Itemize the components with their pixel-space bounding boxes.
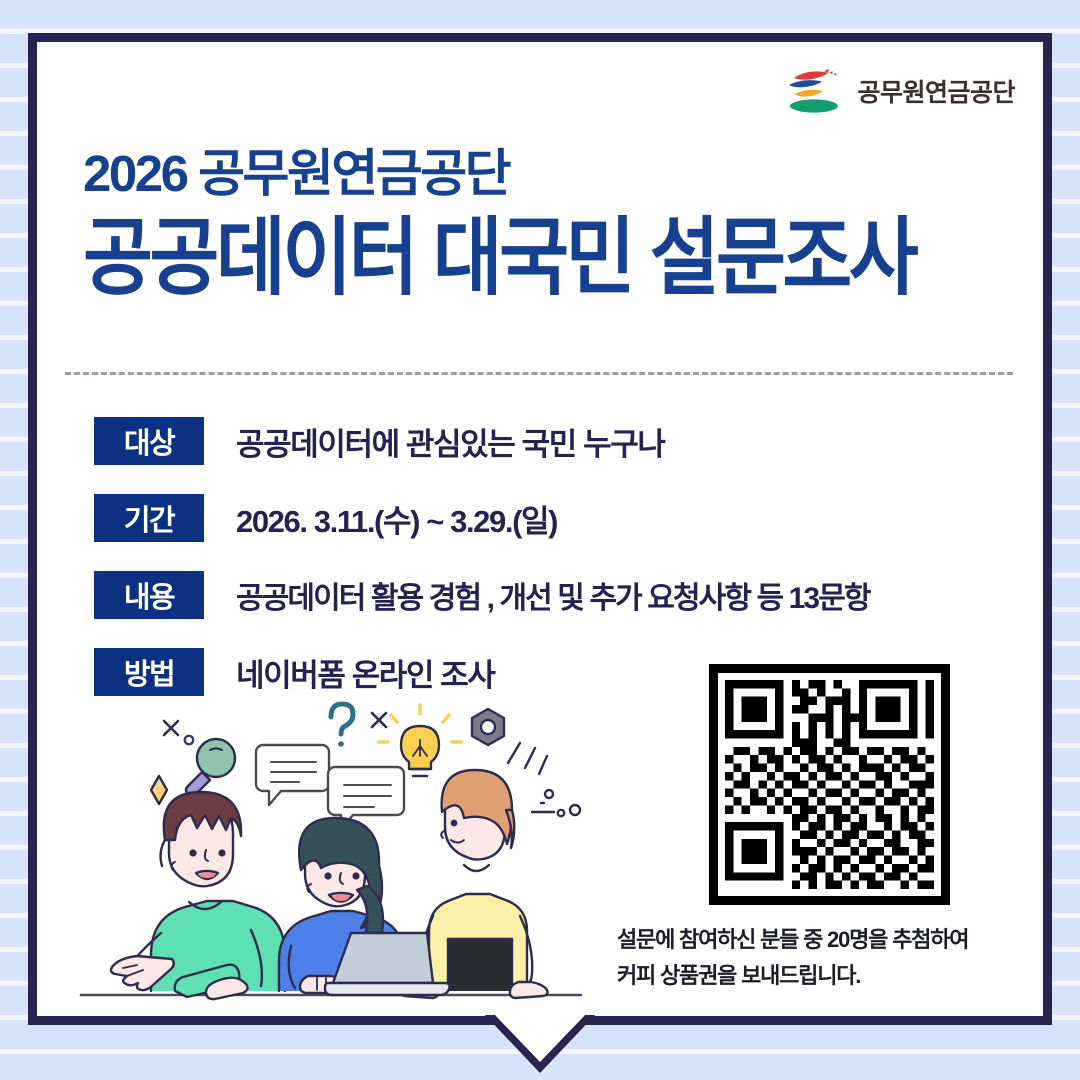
info-row-period: 기간 2026. 3.11.(수) ~ 3.29.(일) <box>94 494 994 542</box>
survey-qr-code[interactable] <box>709 664 950 905</box>
prize-caption-line-2: 커피 상품권을 보내드립니다. <box>617 958 1007 994</box>
brand-logo-text: 공무원연금공단 <box>857 73 1015 109</box>
cross-sparkle-icon <box>164 721 178 735</box>
brand-logo: 공무원연금공단 <box>784 67 1015 115</box>
lightbulb-icon <box>379 705 461 776</box>
info-label-content: 내용 <box>94 571 204 619</box>
person-green-sweater <box>111 792 285 999</box>
prize-caption: 설문에 참여하신 분들 중 20명을 추첨하여 커피 상품권을 보내드립니다. <box>617 922 1007 993</box>
info-label-method: 방법 <box>94 648 204 696</box>
info-value-content: 공공데이터 활용 경험 , 개선 및 추가 요청사항 등 13문항 <box>236 573 870 617</box>
notch-inner <box>493 1015 587 1062</box>
three-people-discussing-illustration <box>65 690 625 1008</box>
dashed-divider <box>65 372 1013 375</box>
person-blue-sweater <box>279 818 450 995</box>
sparkle-icon <box>151 776 167 804</box>
qr-quiet-zone <box>718 673 941 896</box>
info-label-period: 기간 <box>94 494 204 542</box>
title-line-2: 공공데이터 대국민 설문조사 <box>83 214 915 303</box>
speech-bubble-icon <box>256 745 329 805</box>
qr-matrix <box>725 680 934 889</box>
title-line-1: 2026 공무원연금공단 <box>83 147 915 201</box>
gpf-swoosh-logo-icon <box>784 67 844 115</box>
illustration-svg <box>65 690 625 1008</box>
poster-page: 공무원연금공단 2026 공무원연금공단 공공데이터 대국민 설문조사 대상 공… <box>0 0 1080 1080</box>
info-row-content: 내용 공공데이터 활용 경험 , 개선 및 추가 요청사항 등 13문항 <box>94 571 994 619</box>
info-row-target: 대상 공공데이터에 관심있는 국민 누구나 <box>94 417 994 465</box>
motion-lines-icon <box>508 743 580 816</box>
card-bottom-notch <box>484 1015 596 1073</box>
info-label-target: 대상 <box>94 417 204 465</box>
question-mark-icon <box>331 704 353 747</box>
info-value-method: 네이버폼 온라인 조사 <box>236 650 495 695</box>
cross-sparkle-icon <box>372 713 386 727</box>
ring-dot-icon <box>185 736 193 744</box>
prize-caption-line-1: 설문에 참여하신 분들 중 20명을 추첨하여 <box>617 922 1007 958</box>
page-title: 2026 공무원연금공단 공공데이터 대국민 설문조사 <box>83 147 915 293</box>
info-value-period: 2026. 3.11.(수) ~ 3.29.(일) <box>236 496 557 541</box>
poster-card: 공무원연금공단 2026 공무원연금공단 공공데이터 대국민 설문조사 대상 공… <box>37 42 1043 1016</box>
poster-frame: 공무원연금공단 2026 공무원연금공단 공공데이터 대국민 설문조사 대상 공… <box>28 33 1052 1025</box>
notch-outer <box>484 1015 596 1073</box>
hex-nut-icon <box>472 709 504 745</box>
info-value-target: 공공데이터에 관심있는 국민 누구나 <box>236 419 664 464</box>
magnifier-icon <box>186 739 235 796</box>
